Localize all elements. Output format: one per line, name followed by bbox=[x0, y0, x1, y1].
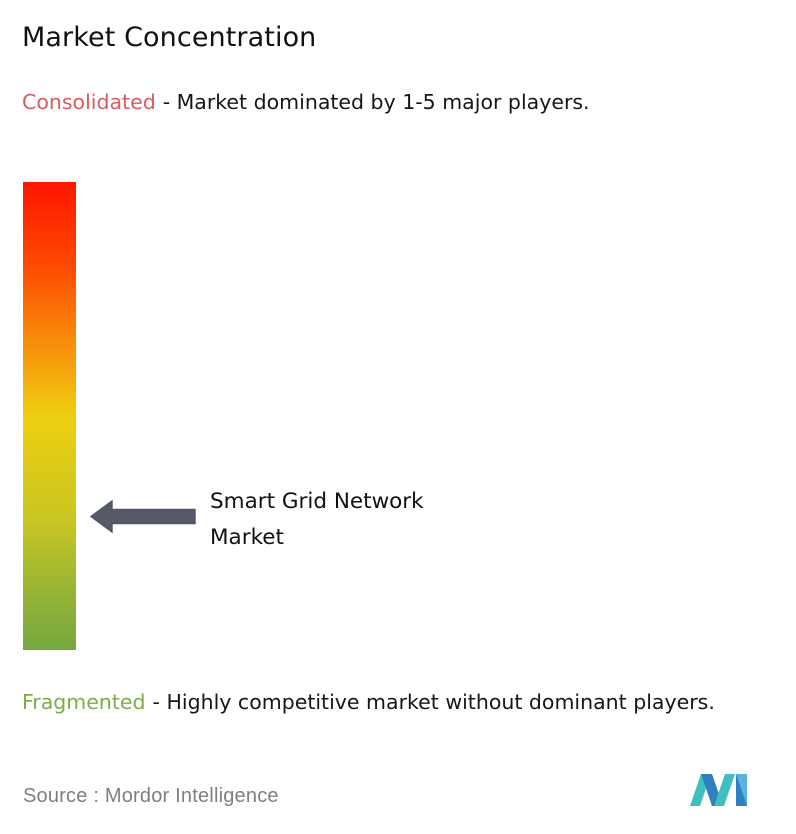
mordor-intelligence-logo bbox=[690, 770, 760, 810]
legend-fragmented: Fragmented- Highly competitive market wi… bbox=[22, 687, 792, 718]
marker-label-line1: Smart Grid Network bbox=[210, 484, 540, 520]
legend-fragmented-description: - Highly competitive market without domi… bbox=[153, 690, 715, 714]
legend-fragmented-keyword: Fragmented bbox=[22, 690, 146, 714]
marker-label: Smart Grid Network Market bbox=[210, 484, 540, 556]
legend-consolidated-description: - Market dominated by 1-5 major players. bbox=[163, 90, 590, 114]
page-title: Market Concentration bbox=[22, 21, 316, 55]
legend-consolidated-keyword: Consolidated bbox=[22, 90, 156, 114]
arrow-left-icon bbox=[91, 501, 195, 532]
market-concentration-gradient-bar bbox=[23, 182, 76, 650]
legend-consolidated: Consolidated- Market dominated by 1-5 ma… bbox=[22, 87, 767, 118]
marker-label-line2: Market bbox=[210, 520, 540, 556]
chart-canvas: Market Concentration Consolidated- Marke… bbox=[0, 0, 796, 834]
source-attribution: Source : Mordor Intelligence bbox=[23, 783, 279, 809]
marker-arrow bbox=[90, 497, 196, 536]
